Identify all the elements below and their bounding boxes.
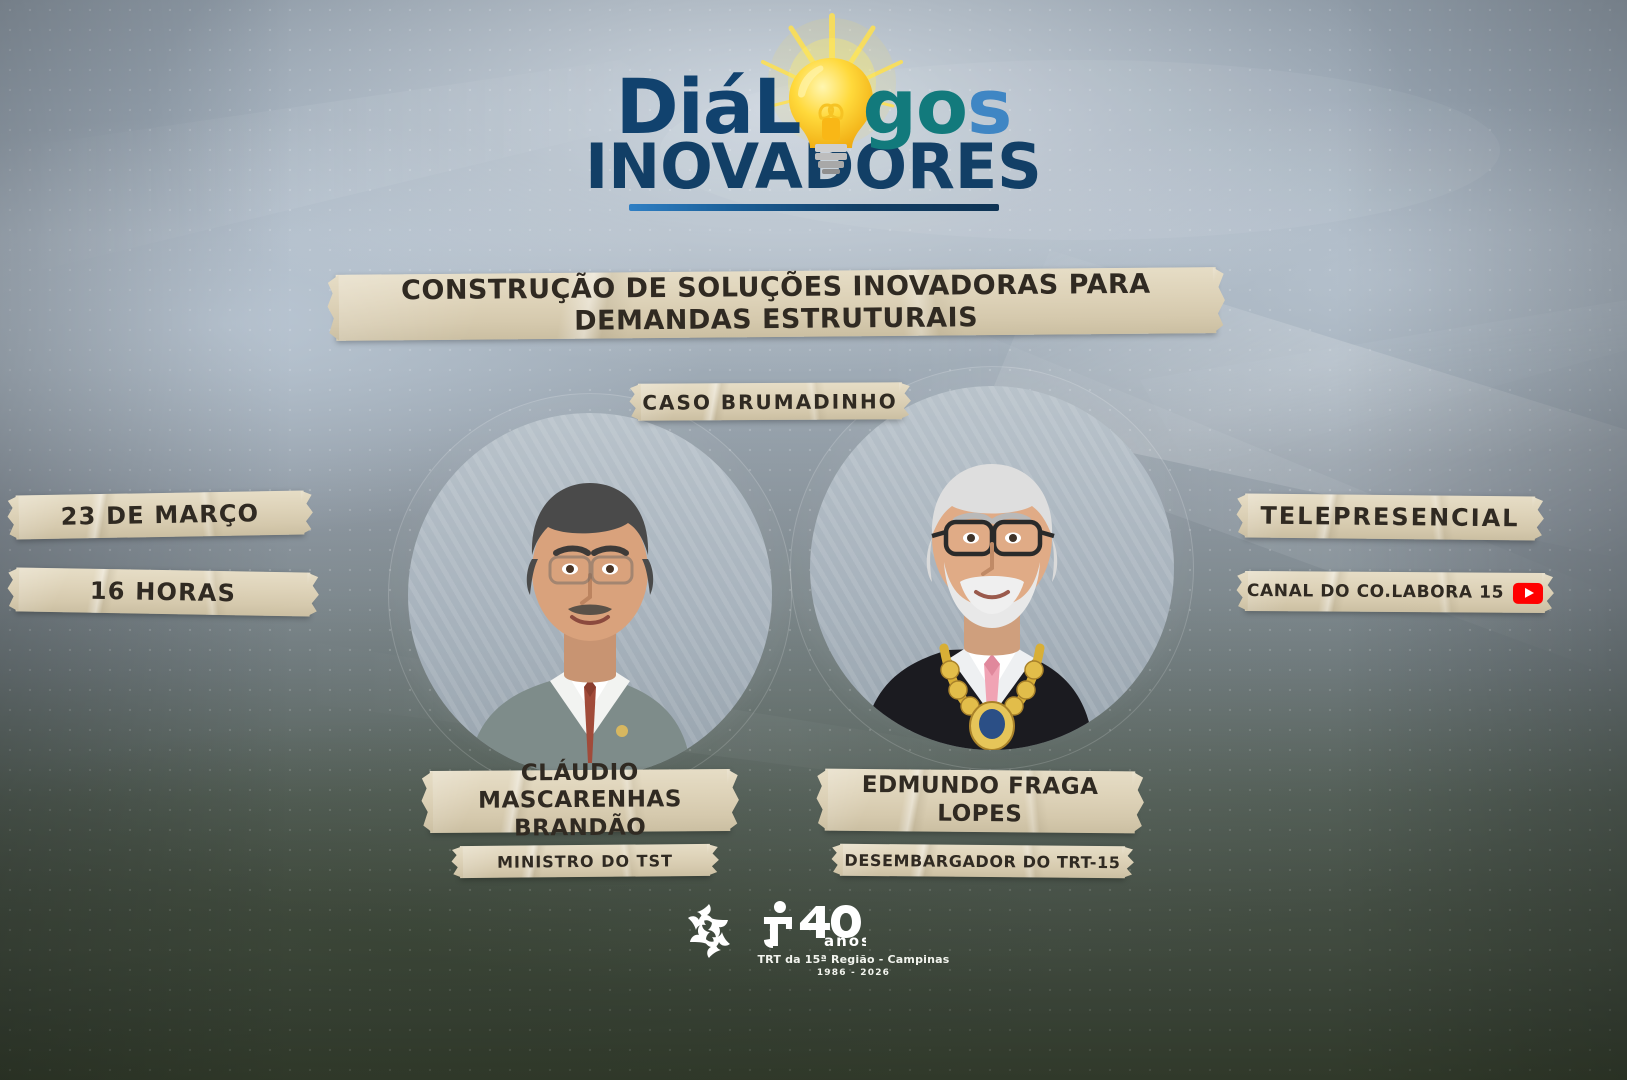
logo-text-s: s (967, 62, 1011, 151)
speaker-role-banner-right: DESEMBARGADOR DO TRT-15 (840, 844, 1125, 878)
event-channel-banner[interactable]: CANAL DO CO.LABORA 15 (1245, 571, 1545, 613)
logo-underline-bar (629, 204, 999, 211)
footer-logos: anos TRT da 15ª Região - Campinas 1986 -… (677, 900, 949, 978)
logo-text-a-acute: á (703, 62, 753, 151)
speaker-photo-left (408, 413, 772, 777)
speaker-name-banner-right: EDMUNDO FRAGA LOPES (825, 769, 1136, 834)
speaker-name-line1: EDMUNDO FRAGA (862, 772, 1099, 800)
event-poster: DiáLgos INOVADORES CONSTRUÇÃO DE SOLUÇÕE… (0, 0, 1627, 1080)
anniversary-anos-text: anos (823, 932, 865, 948)
event-subject-label: CASO BRUMADINHO (642, 389, 897, 414)
footer-organization: TRT da 15ª Região - Campinas (757, 953, 949, 966)
footer-years: 1986 - 2026 (757, 968, 949, 978)
speaker-role-label: DESEMBARGADOR DO TRT-15 (844, 850, 1120, 871)
speaker-role-banner-left: MINISTRO DO TST (460, 844, 710, 878)
event-date-banner: 23 DE MARÇO (16, 490, 305, 539)
youtube-icon[interactable] (1513, 582, 1543, 603)
logo-text-di: Di (616, 62, 703, 151)
event-title-line2: DEMANDAS ESTRUTURAIS (574, 302, 978, 337)
speaker-name-line2: LOPES (937, 801, 1022, 828)
speaker-photo-right (810, 386, 1174, 750)
play-triangle-icon (1525, 588, 1534, 598)
logo-text-g: g (863, 62, 916, 151)
event-time-label: 16 HORAS (90, 577, 237, 608)
event-time-banner: 16 HORAS (16, 567, 311, 616)
speaker-portrait-illustration-left (408, 413, 772, 777)
program-logo: DiáLgos INOVADORES (579, 72, 1049, 211)
logo-wordmark-dialogos: DiáLgos (579, 72, 1049, 142)
logo-text-o: o (916, 62, 967, 151)
anniversary-40-anos-logo-icon: anos (757, 900, 865, 948)
event-format-banner: TELEPRESENCIAL (1245, 493, 1535, 540)
speaker-name-line1: CLÁUDIO MASCARENHAS (478, 759, 682, 814)
speaker-role-label: MINISTRO DO TST (497, 851, 673, 872)
speaker-portrait-illustration-right (810, 386, 1174, 750)
event-channel-label: CANAL DO CO.LABORA 15 (1247, 581, 1504, 603)
event-title-line1: CONSTRUÇÃO DE SOLUÇÕES INOVADORAS PARA (401, 269, 1151, 307)
speaker-name-line2: BRANDÃO (514, 814, 646, 841)
event-format-label: TELEPRESENCIAL (1260, 502, 1519, 533)
speaker-name-banner-left: CLÁUDIO MASCARENHAS BRANDÃO (430, 769, 730, 833)
event-date-label: 23 DE MARÇO (60, 499, 259, 530)
event-subject-banner: CASO BRUMADINHO (638, 382, 902, 420)
birds-logo-icon (677, 900, 739, 962)
event-title-banner: CONSTRUÇÃO DE SOLUÇÕES INOVADORAS PARA D… (336, 267, 1217, 341)
logo-text-l: L (753, 62, 800, 151)
